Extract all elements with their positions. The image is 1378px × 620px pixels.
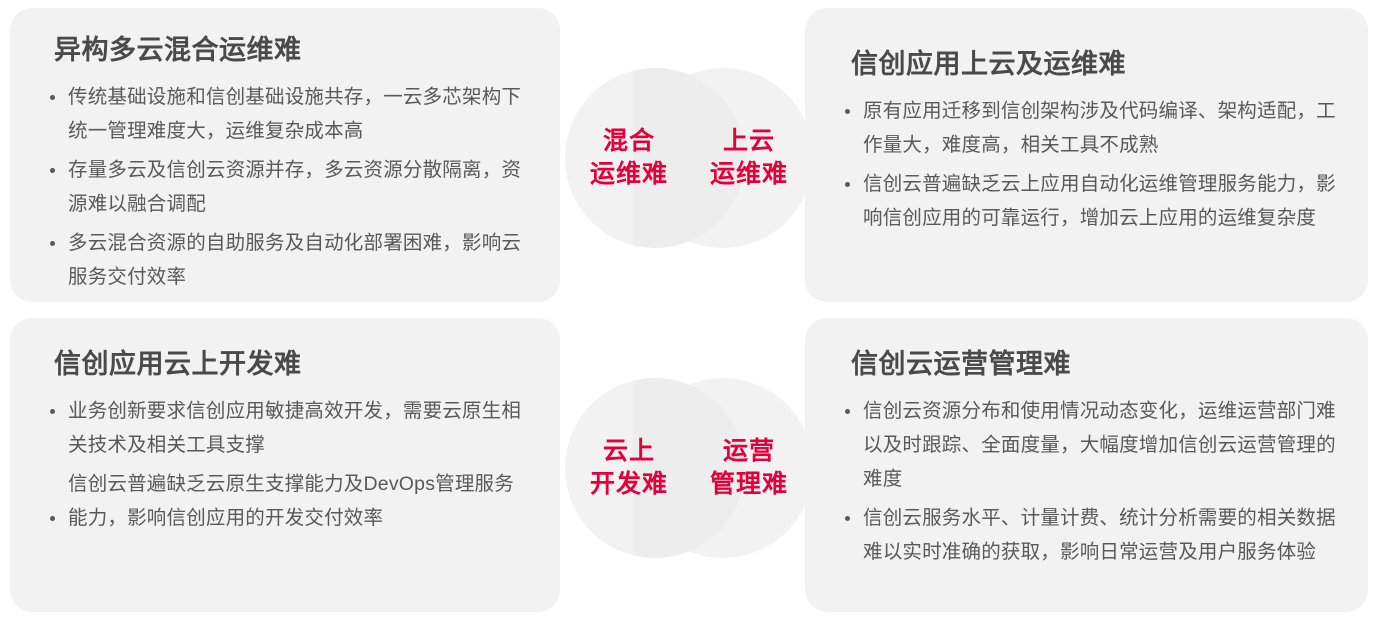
bullet-list: 信创云资源分布和使用情况动态变化，运维运营部门难以及时跟踪、全面度量，大幅度增加… [841,394,1338,569]
list-item: 传统基础设施和信创基础设施共存，一云多芯架构下统一管理难度大，运维复杂成本高 [46,80,530,148]
bullet-list: 传统基础设施和信创基础设施共存，一云多芯架构下统一管理难度大，运维复杂成本高 存… [46,80,530,294]
bullet-dot-icon [50,95,55,100]
venn-label-right: 上云 运维难 [659,68,839,248]
bullet-dot-icon [50,241,55,246]
card-heterogeneous-multicloud-ops: 异构多云混合运维难 传统基础设施和信创基础设施共存，一云多芯架构下统一管理难度大… [10,8,560,302]
venn-label-line-2: 开发难 [590,468,668,501]
card-title: 信创应用上云及运维难 [851,48,1338,80]
bullet-list: 原有应用迁移到信创架构涉及代码编译、架构适配，工作量大，难度高，相关工具不成熟 … [841,94,1338,235]
venn-label-line-1: 混合 [603,125,655,158]
list-item-text: 多云混合资源的自助服务及自动化部署困难，影响云服务交付效率 [68,232,521,288]
list-item: 多云混合资源的自助服务及自动化部署困难，影响云服务交付效率 [46,226,530,294]
list-item: 存量多云及信创云资源并存，多云资源分散隔离，资源难以融合调配 [46,153,530,221]
list-item: 原有应用迁移到信创架构涉及代码编译、架构适配，工作量大，难度高，相关工具不成熟 [841,94,1338,162]
list-item: 信创云资源分布和使用情况动态变化，运维运营部门难以及时跟踪、全面度量，大幅度增加… [841,394,1338,496]
list-item: 信创云服务水平、计量计费、统计分析需要的相关数据难以实时准确的获取，影响日常运营… [841,501,1338,569]
bullet-dot-icon [845,109,850,114]
bullet-list: 业务创新要求信创应用敏捷高效开发，需要云原生相关技术及相关工具支撑 信创云普遍缺… [46,394,530,535]
bullet-dot-icon [845,516,850,521]
bullet-dot-icon [845,409,850,414]
card-cloud-operations-management: 信创云运营管理难 信创云资源分布和使用情况动态变化，运维运营部门难以及时跟踪、全… [805,318,1368,612]
card-app-migration-ops: 信创应用上云及运维难 原有应用迁移到信创架构涉及代码编译、架构适配，工作量大，难… [805,8,1368,302]
bullet-dot-icon [50,168,55,173]
card-cloud-native-development: 信创应用云上开发难 业务创新要求信创应用敏捷高效开发，需要云原生相关技术及相关工… [10,318,560,612]
list-item-text: 信创云资源分布和使用情况动态变化，运维运营部门难以及时跟踪、全面度量，大幅度增加… [863,400,1336,490]
venn-label-line-2: 运维难 [710,158,788,191]
list-item-text: 业务创新要求信创应用敏捷高效开发，需要云原生相关技术及相关工具支撑 [68,400,521,456]
list-item-text: 信创云普遍缺乏云上应用自动化运维管理服务能力，影响信创应用的可靠运行，增加云上应… [863,173,1336,229]
venn-label-line-1: 云上 [603,435,655,468]
bullet-dot-icon [50,409,55,414]
venn-diagram-top: 混合 运维难 上云 运维难 [565,68,813,248]
list-item-text: 原有应用迁移到信创架构涉及代码编译、架构适配，工作量大，难度高，相关工具不成熟 [863,100,1336,156]
card-title: 异构多云混合运维难 [54,34,530,66]
venn-label-right: 运营 管理难 [659,378,839,558]
list-item-text: 信创云普遍缺乏云原生支撑能力及DevOps管理服务能力，影响信创应用的开发交付效… [68,473,514,529]
venn-diagram-bottom: 云上 开发难 运营 管理难 [565,378,813,558]
list-item-text: 传统基础设施和信创基础设施共存，一云多芯架构下统一管理难度大，运维复杂成本高 [68,86,521,142]
bullet-dot-icon [50,516,55,521]
list-item: 信创云普遍缺乏云上应用自动化运维管理服务能力，影响信创应用的可靠运行，增加云上应… [841,167,1338,235]
venn-label-line-2: 运维难 [590,158,668,191]
pain-point-board: 异构多云混合运维难 传统基础设施和信创基础设施共存，一云多芯架构下统一管理难度大… [0,0,1378,620]
card-title: 信创云运营管理难 [851,348,1338,380]
list-item-text: 存量多云及信创云资源并存，多云资源分散隔离，资源难以融合调配 [68,159,521,215]
venn-label-line-2: 管理难 [710,468,788,501]
venn-label-line-1: 运营 [723,435,775,468]
list-item: 业务创新要求信创应用敏捷高效开发，需要云原生相关技术及相关工具支撑 [46,394,530,462]
card-title: 信创应用云上开发难 [54,348,530,380]
bullet-dot-icon [845,182,850,187]
list-item-text: 信创云服务水平、计量计费、统计分析需要的相关数据难以实时准确的获取，影响日常运营… [863,507,1336,563]
list-item: 信创云普遍缺乏云原生支撑能力及DevOps管理服务能力，影响信创应用的开发交付效… [46,467,530,535]
venn-label-line-1: 上云 [723,125,775,158]
